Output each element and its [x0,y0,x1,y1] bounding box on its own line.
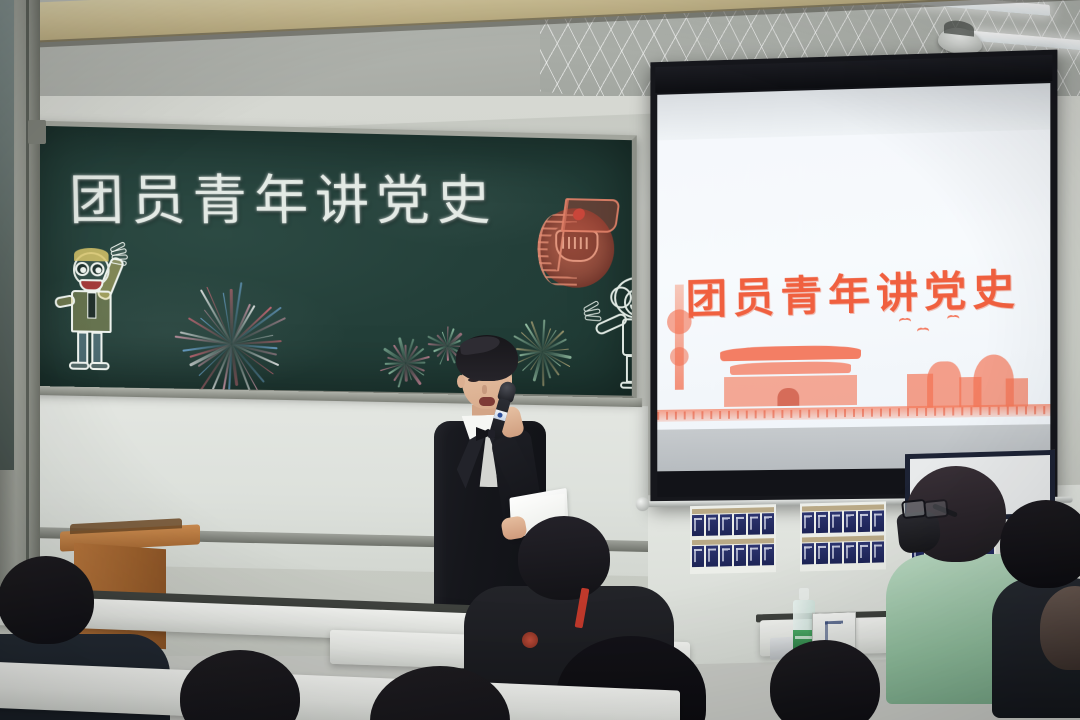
chalk-hand-icon [583,304,609,326]
chalk-firework-large [166,278,297,401]
wall-poster [800,501,886,571]
tiananmen-gate-silhouette [716,345,865,411]
bottle-cap [799,588,809,600]
pillar-seam [26,0,29,600]
presenter-nose [482,385,487,394]
slide-top-band [657,83,1050,140]
dove-icon [917,328,928,335]
window-pillar [0,0,40,600]
presenter-ear [457,375,465,388]
dove-icon [947,315,958,322]
blackboard-headline: 团员青年讲党史 [68,155,498,235]
chalk-hand-icon [110,244,134,265]
wall-poster [690,504,776,574]
chalk-cartoon-student-curly [597,276,637,394]
lecture-hall-photo: 团员青年讲党史 [0,0,1080,720]
dove-icon [899,318,910,325]
eyeglasses [902,500,950,516]
pillar-bracket [28,120,46,144]
presenter-mouth [479,397,495,406]
chalk-dove-icon [633,230,637,243]
presenter-hair [456,335,518,381]
slide-skyline-graphic [657,273,1050,430]
skyline-buildings-silhouette [907,340,1028,408]
screen-pull-knob[interactable] [636,497,650,511]
oriental-pearl-tower-silhouette [675,285,684,390]
window-glass [0,0,14,470]
chalk-cartoon-student-waving [57,245,134,377]
audience-member-front-center [330,666,570,720]
slide-canvas: 团员青年讲党史 [657,83,1050,471]
audience-member-mid-right [760,640,900,720]
projection-screen: 团员青年讲党史 [650,50,1057,505]
